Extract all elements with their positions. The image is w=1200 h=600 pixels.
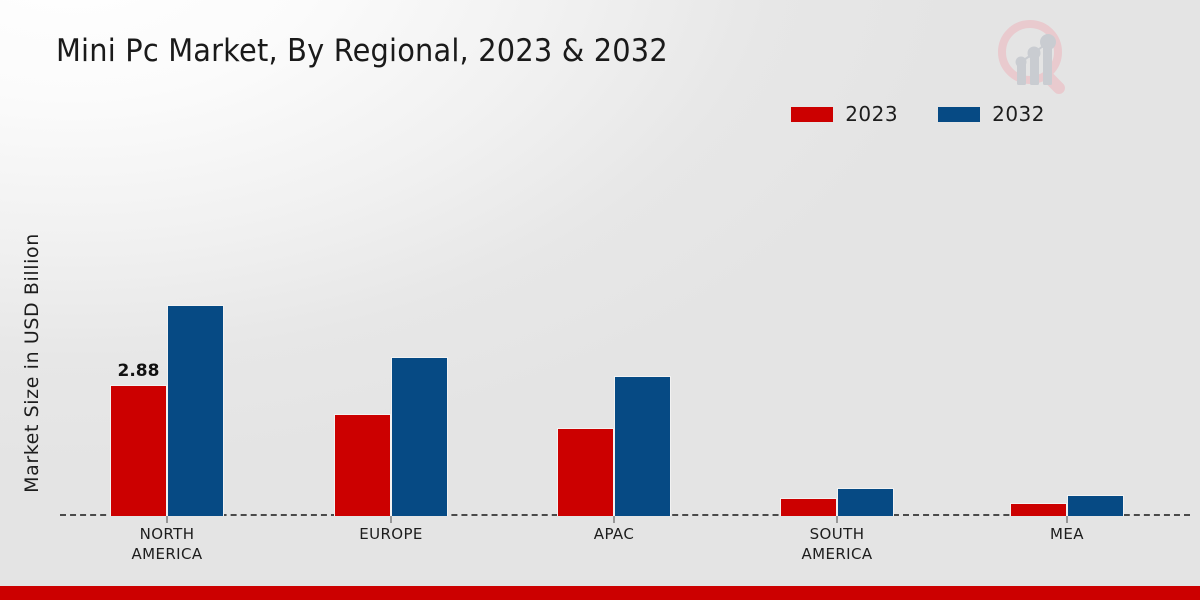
bars-wrap: [780, 140, 894, 516]
bar-2032[interactable]: [167, 305, 224, 516]
chart-title: Mini Pc Market, By Regional, 2023 & 2032: [56, 33, 668, 69]
chart-container: Mini Pc Market, By Regional, 2023 & 2032…: [0, 0, 1200, 600]
category-label: APAC: [594, 524, 634, 544]
bar-2032[interactable]: [837, 488, 894, 516]
bars-wrap: [1010, 140, 1124, 516]
bars-wrap: [557, 140, 671, 516]
x-axis-tick: [1067, 516, 1068, 523]
bar-2023[interactable]: [334, 414, 391, 516]
footer-accent-bar: [0, 586, 1200, 600]
bar-2023[interactable]: [557, 428, 614, 516]
bar-2023[interactable]: 2.88: [110, 385, 167, 516]
x-axis-tick: [391, 516, 392, 523]
legend-swatch-2023: [791, 107, 833, 122]
legend-swatch-2032: [938, 107, 980, 122]
category-label: EUROPE: [359, 524, 423, 544]
category-label: SOUTH AMERICA: [801, 524, 872, 564]
x-axis-tick: [837, 516, 838, 523]
chart-legend: 2023 2032: [791, 102, 1045, 126]
category-label: NORTH AMERICA: [131, 524, 202, 564]
legend-label-2032: 2032: [992, 102, 1045, 126]
legend-item-2032[interactable]: 2032: [938, 102, 1045, 126]
y-axis-title: Market Size in USD Billion: [21, 163, 43, 563]
bars-wrap: 2.88: [110, 140, 224, 516]
bar-2032[interactable]: [614, 376, 671, 516]
legend-label-2023: 2023: [845, 102, 898, 126]
bar-value-label: 2.88: [118, 361, 160, 381]
legend-item-2023[interactable]: 2023: [791, 102, 898, 126]
watermark-logo-icon: [988, 10, 1080, 102]
bars-wrap: [334, 140, 448, 516]
bar-2023[interactable]: [780, 498, 837, 516]
x-axis-tick: [167, 516, 168, 523]
x-axis-tick: [614, 516, 615, 523]
bar-2032[interactable]: [391, 357, 448, 516]
category-label: MEA: [1050, 524, 1084, 544]
bar-2023[interactable]: [1010, 503, 1067, 516]
bar-2032[interactable]: [1067, 495, 1124, 516]
plot-area: 2.88 NORTH AMERICA EUROPE APAC: [60, 140, 1190, 516]
